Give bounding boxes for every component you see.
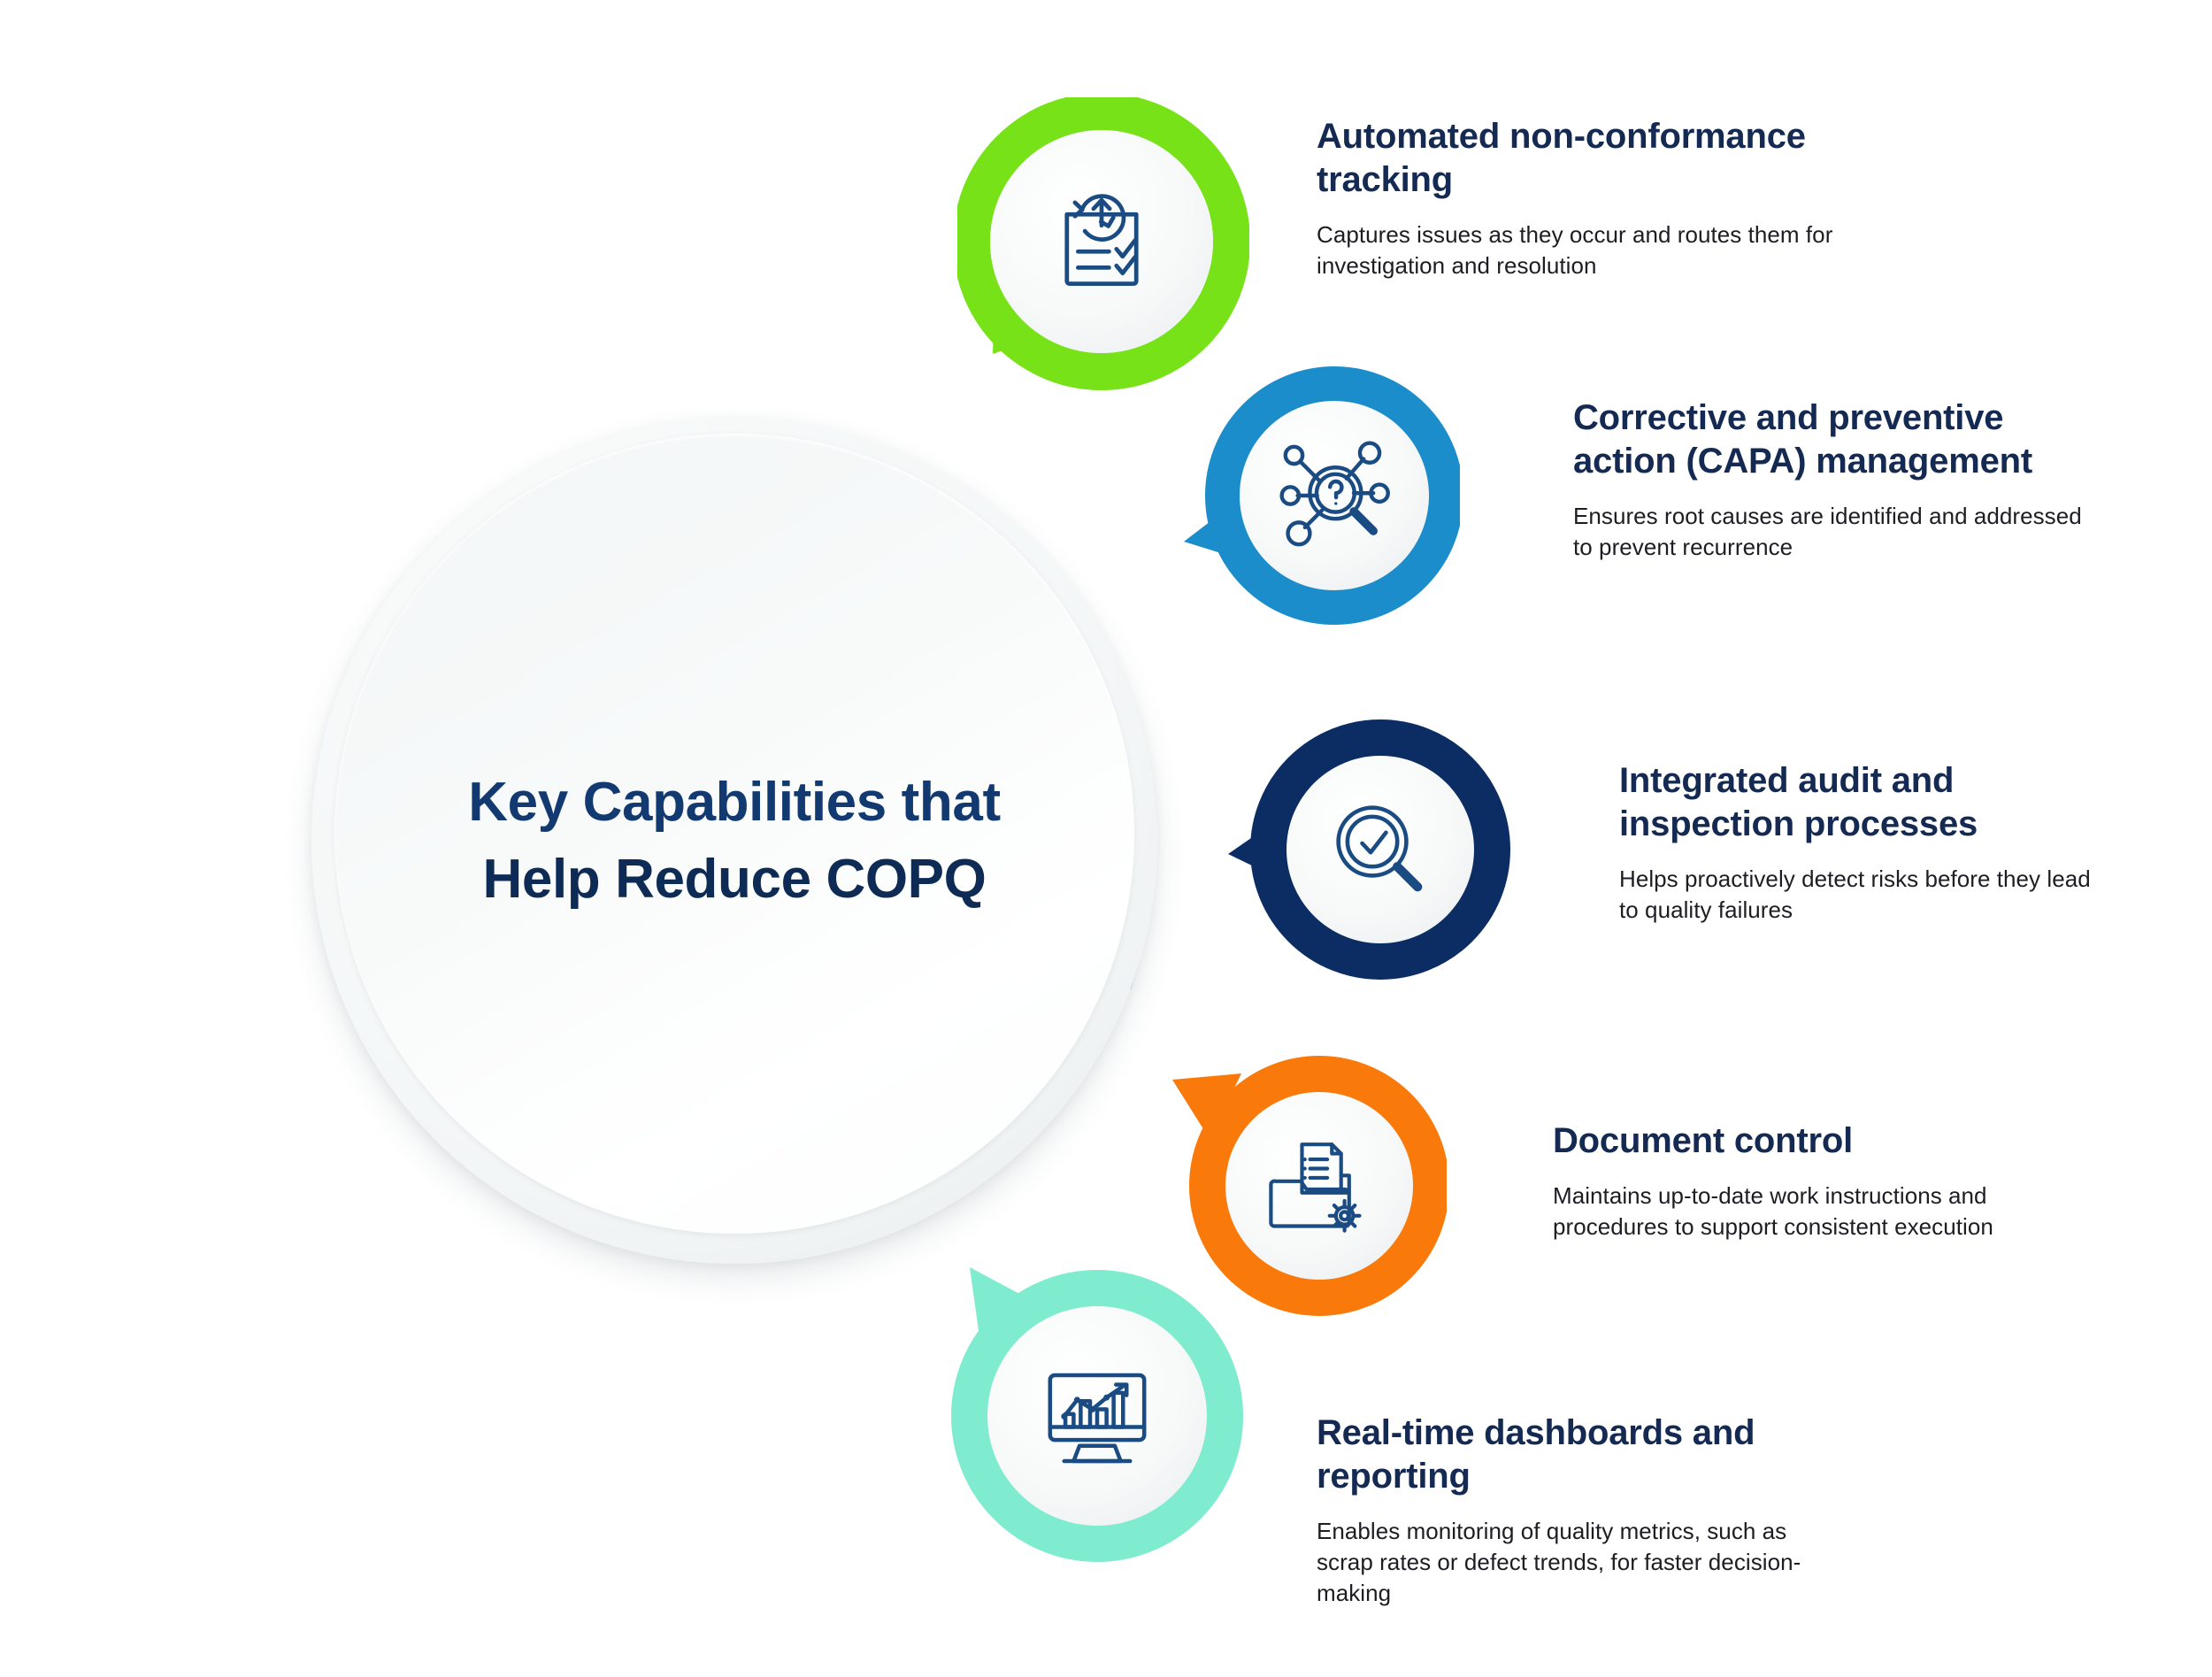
hub-title-line-2: Help Reduce COPQ [483, 848, 987, 911]
capability-title: Document control [1553, 1119, 2048, 1163]
capability-bubble-real-time-dashboards-and-reporting[interactable] [947, 1257, 1248, 1566]
magnifier-check-icon [1323, 792, 1438, 907]
capability-text-real-time-dashboards-and-reporting: Real-time dashboards and reporting Enabl… [1317, 1412, 1812, 1610]
capability-bubble-capa-management[interactable] [1177, 354, 1460, 637]
clipboard-refresh-checklist-icon [1031, 171, 1172, 312]
capability-description: Maintains up-to-date work instructions a… [1553, 1181, 2048, 1243]
folder-documents-gear-icon [1262, 1128, 1377, 1243]
capability-text-capa-management: Corrective and preventive action (CAPA) … [1573, 396, 2104, 563]
hub-title-block: Key Capabilities that Help Reduce COPQ [292, 398, 1177, 1283]
capability-text-automated-non-conformance-tracking: Automated non-conformance tracking Captu… [1317, 115, 1847, 281]
monitor-bar-chart-trend-icon [1035, 1357, 1159, 1476]
hub-circle: Key Capabilities that Help Reduce COPQ [292, 398, 1177, 1283]
capability-title: Integrated audit and inspection processe… [1619, 759, 2115, 846]
infographic-canvas: Key Capabilities that Help Reduce COPQ [0, 0, 2212, 1677]
capability-title: Real-time dashboards and reporting [1317, 1412, 1812, 1498]
capability-title: Corrective and preventive action (CAPA) … [1573, 396, 2104, 483]
hub-title-line-1: Key Capabilities that [468, 771, 1000, 834]
capability-description: Enables monitoring of quality metrics, s… [1317, 1516, 1812, 1610]
capability-text-integrated-audit-and-inspection-processes: Integrated audit and inspection processe… [1619, 759, 2115, 926]
root-cause-magnifier-network-icon [1272, 434, 1396, 558]
capability-description: Helps proactively detect risks before th… [1619, 864, 2115, 927]
capability-description: Captures issues as they occur and routes… [1317, 219, 1847, 282]
capability-title: Automated non-conformance tracking [1317, 115, 1847, 202]
capability-description: Ensures root causes are identified and a… [1573, 501, 2104, 564]
capability-bubble-integrated-audit-and-inspection-processes[interactable] [1228, 708, 1511, 991]
capability-text-document-control: Document control Maintains up-to-date wo… [1553, 1119, 2048, 1243]
